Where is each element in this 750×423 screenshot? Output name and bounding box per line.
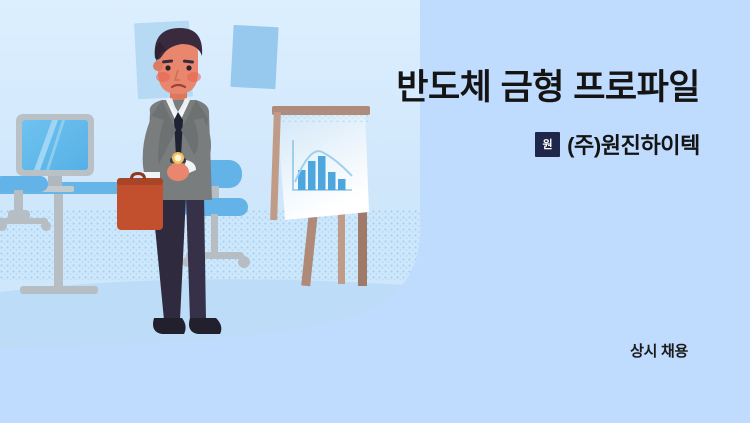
shoe <box>189 318 221 334</box>
company-logo-badge: 원 <box>535 132 560 157</box>
chart-bar <box>318 156 326 190</box>
shoe <box>153 318 186 334</box>
hiring-status-label: 상시 채용 <box>300 340 688 361</box>
hand <box>167 163 189 181</box>
page-title: 반도체 금형 프로파일 <box>300 68 700 108</box>
chart-bar <box>338 179 346 190</box>
office-illustration <box>0 0 420 355</box>
company-name[interactable]: (주)원진하이텍 <box>567 128 700 160</box>
job-posting-banner: 반도체 금형 프로파일 원 (주)원진하이텍 상시 채용 <box>0 0 750 423</box>
chart-bar <box>328 172 336 190</box>
briefcase <box>117 178 163 230</box>
chart-bar <box>308 161 316 190</box>
company-row: 원 (주)원진하이텍 <box>300 128 700 160</box>
